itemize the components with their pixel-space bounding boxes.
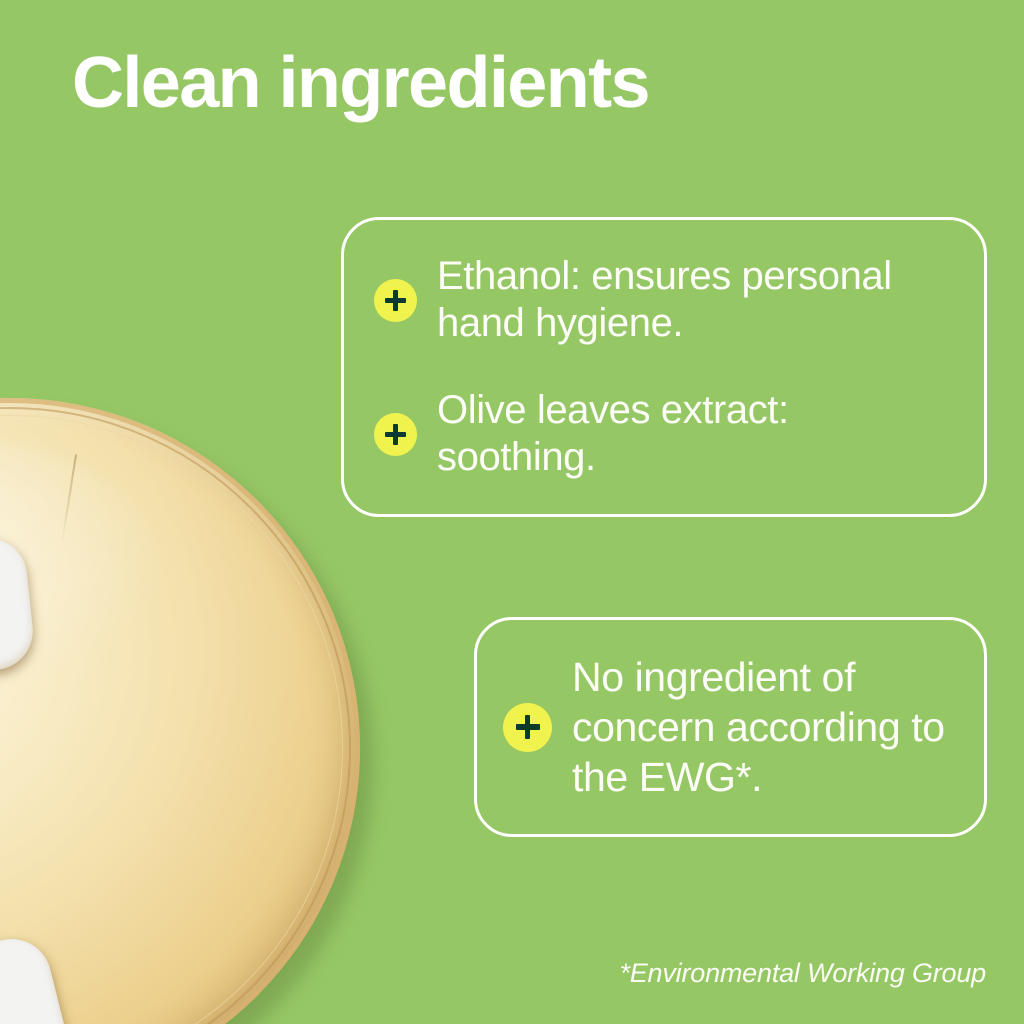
product-image [0,398,380,1024]
ewg-card: No ingredient of concern according to th… [474,617,987,837]
list-item: Ethanol: ensures personal hand hygiene. [374,253,958,347]
ingredients-card: Ethanol: ensures personal hand hygiene. … [341,217,987,517]
list-item: Olive leaves extract: soothing. [374,387,958,481]
promo-poster: Clean ingredients Ethanol: ensures perso… [0,0,1024,1024]
plus-icon [374,279,417,322]
list-item-label: Ethanol: ensures personal hand hygiene. [437,253,958,347]
plus-icon [374,413,417,456]
list-item: No ingredient of concern according to th… [503,652,962,802]
page-title: Clean ingredients [72,47,649,119]
plus-icon [503,703,552,752]
list-item-label: Olive leaves extract: soothing. [437,387,958,481]
list-item-label: No ingredient of concern according to th… [572,652,962,802]
footnote: *Environmental Working Group [619,956,986,990]
